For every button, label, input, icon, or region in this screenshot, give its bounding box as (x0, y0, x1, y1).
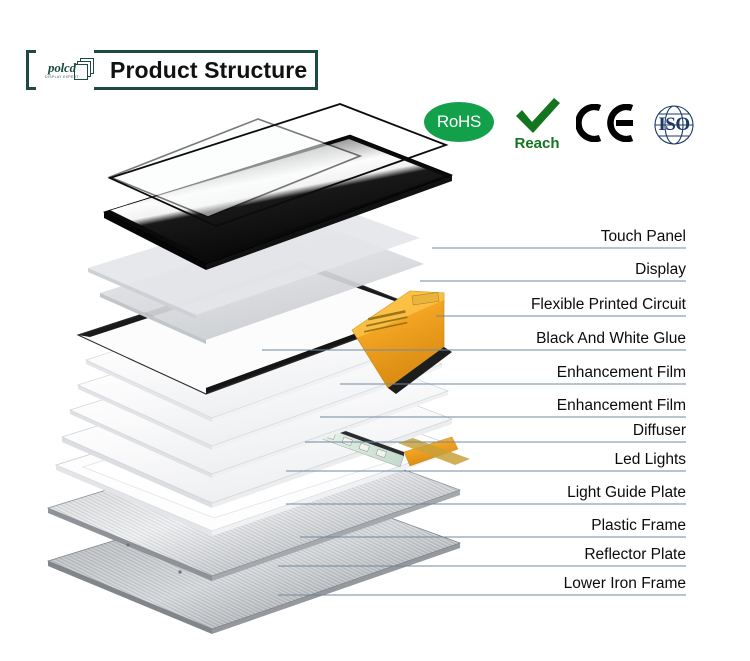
layer-reflector-plate-label: Reflector Plate (584, 547, 686, 563)
layer-diffuser-label: Diffuser (633, 423, 686, 439)
product-structure-diagram: polcd DISPLAY EXPERT Product Structure R… (0, 0, 750, 661)
layer-light-guide-plate-label: Light Guide Plate (567, 485, 686, 501)
logo-wordmark: polcd (48, 61, 76, 74)
layer-enhancement-film-1-label: Enhancement Film (557, 365, 686, 381)
logo-tagline: DISPLAY EXPERT (45, 76, 79, 79)
layer-flexible-printed-circuit-label: Flexible Printed Circuit (531, 297, 686, 313)
layer-enhancement-film-2-label: Enhancement Film (557, 398, 686, 414)
layer-labels: Touch PanelDisplayFlexible Printed Circu… (0, 0, 750, 661)
layer-touch-panel-label: Touch Panel (601, 229, 686, 245)
layer-plastic-frame-label: Plastic Frame (591, 518, 686, 534)
layer-led-lights-label: Led Lights (614, 452, 686, 468)
layer-display-label: Display (635, 262, 686, 278)
layer-lower-iron-frame-label: Lower Iron Frame (564, 576, 686, 592)
layer-black-and-white-glue-label: Black And White Glue (536, 331, 686, 347)
